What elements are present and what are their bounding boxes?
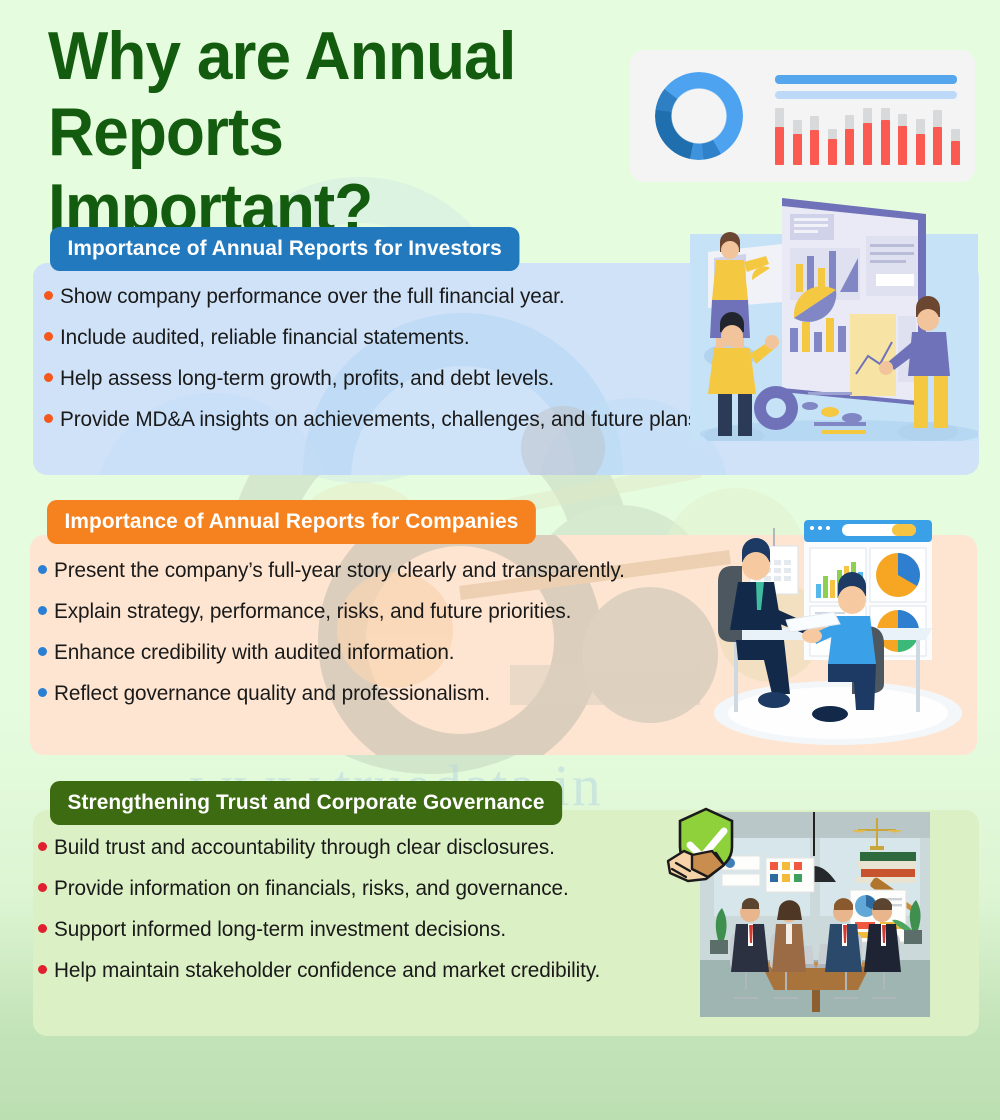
team-dashboard-analysis-illustration [690, 196, 978, 441]
section-heading-governance: Strengthening Trust and Corporate Govern… [50, 781, 562, 825]
bullet-list-investors: Show company performance over the full f… [44, 284, 784, 431]
bullet-text: Include audited, reliable financial stat… [60, 325, 470, 349]
bullet-dot-icon [38, 883, 47, 892]
bar-fill [881, 120, 890, 165]
bullet-dot-icon [38, 924, 47, 933]
trust-handshake-shield-icon [660, 805, 752, 897]
bullet-text: Explain strategy, performance, risks, an… [54, 599, 571, 623]
bullet-item: Support informed long-term investment de… [38, 917, 698, 941]
progress-bar-primary [775, 75, 957, 84]
bullet-dot-icon [44, 332, 53, 341]
bullet-text: Provide information on financials, risks… [54, 876, 569, 900]
bullet-text: Support informed long-term investment de… [54, 917, 506, 941]
bar-column [775, 108, 784, 165]
bullet-dot-icon [44, 373, 53, 382]
bar-fill [845, 129, 854, 165]
bar-column [845, 115, 854, 165]
bar-fill [793, 134, 802, 165]
bar-fill [810, 130, 819, 165]
bullet-item: Provide information on financials, risks… [38, 876, 698, 900]
bar-fill [828, 139, 837, 165]
bullet-text: Help assess long-term growth, profits, a… [60, 366, 554, 390]
bullet-item: Build trust and accountability through c… [38, 835, 698, 859]
bar-fill [951, 141, 960, 165]
bullet-text: Reflect governance quality and professio… [54, 681, 490, 705]
progress-bar-secondary [775, 91, 957, 99]
donut-chart [655, 72, 743, 160]
bar-fill [775, 127, 784, 165]
bar-column [793, 120, 802, 165]
bullet-dot-icon [38, 965, 47, 974]
bullet-text: Help maintain stakeholder confidence and… [54, 958, 600, 982]
bullet-dot-icon [38, 606, 47, 615]
bullet-dot-icon [44, 414, 53, 423]
bar-column [933, 110, 942, 165]
bullet-item: Help maintain stakeholder confidence and… [38, 958, 698, 982]
bullet-item: Enhance credibility with audited informa… [38, 640, 738, 664]
bullet-text: Enhance credibility with audited informa… [54, 640, 454, 664]
bar-fill [933, 127, 942, 165]
bullet-dot-icon [38, 688, 47, 697]
page-title-line-2: Reports Important? [48, 94, 593, 246]
analytics-preview-card [630, 50, 975, 182]
bar-fill [916, 134, 925, 165]
bar-chart [775, 108, 960, 165]
bullet-item: Help assess long-term growth, profits, a… [44, 366, 784, 390]
bullet-item: Reflect governance quality and professio… [38, 681, 738, 705]
bar-column [951, 129, 960, 165]
bullet-dot-icon [44, 291, 53, 300]
bar-fill [898, 126, 907, 165]
bar-column [898, 114, 907, 165]
bullet-item: Present the company’s full-year story cl… [38, 558, 738, 582]
bullet-list-companies: Present the company’s full-year story cl… [38, 558, 738, 705]
bar-column [863, 108, 872, 165]
bullet-item: Provide MD&A insights on achievements, c… [44, 407, 784, 431]
bar-fill [863, 123, 872, 165]
bullet-dot-icon [38, 842, 47, 851]
bar-column [916, 119, 925, 165]
bullet-dot-icon [38, 647, 47, 656]
section-heading-companies: Importance of Annual Reports for Compani… [47, 500, 536, 544]
page-title: Why are Annual Reports Important? [48, 18, 593, 246]
bullet-item: Include audited, reliable financial stat… [44, 325, 784, 349]
bullet-text: Provide MD&A insights on achievements, c… [60, 407, 704, 431]
bullet-dot-icon [38, 565, 47, 574]
section-heading-investors: Importance of Annual Reports for Investo… [50, 227, 519, 271]
bullet-text: Build trust and accountability through c… [54, 835, 555, 859]
bullet-item: Explain strategy, performance, risks, an… [38, 599, 738, 623]
bullet-list-governance: Build trust and accountability through c… [38, 835, 698, 982]
business-meeting-desk-illustration [690, 508, 970, 753]
bar-column [810, 116, 819, 165]
bullet-text: Show company performance over the full f… [60, 284, 565, 308]
bullet-item: Show company performance over the full f… [44, 284, 784, 308]
bar-column [881, 108, 890, 165]
bar-column [828, 129, 837, 165]
infographic-page: www.truedata.in Why are Annual Reports I… [0, 0, 1000, 1120]
page-title-line-1: Why are Annual [48, 18, 593, 94]
bullet-text: Present the company’s full-year story cl… [54, 558, 625, 582]
